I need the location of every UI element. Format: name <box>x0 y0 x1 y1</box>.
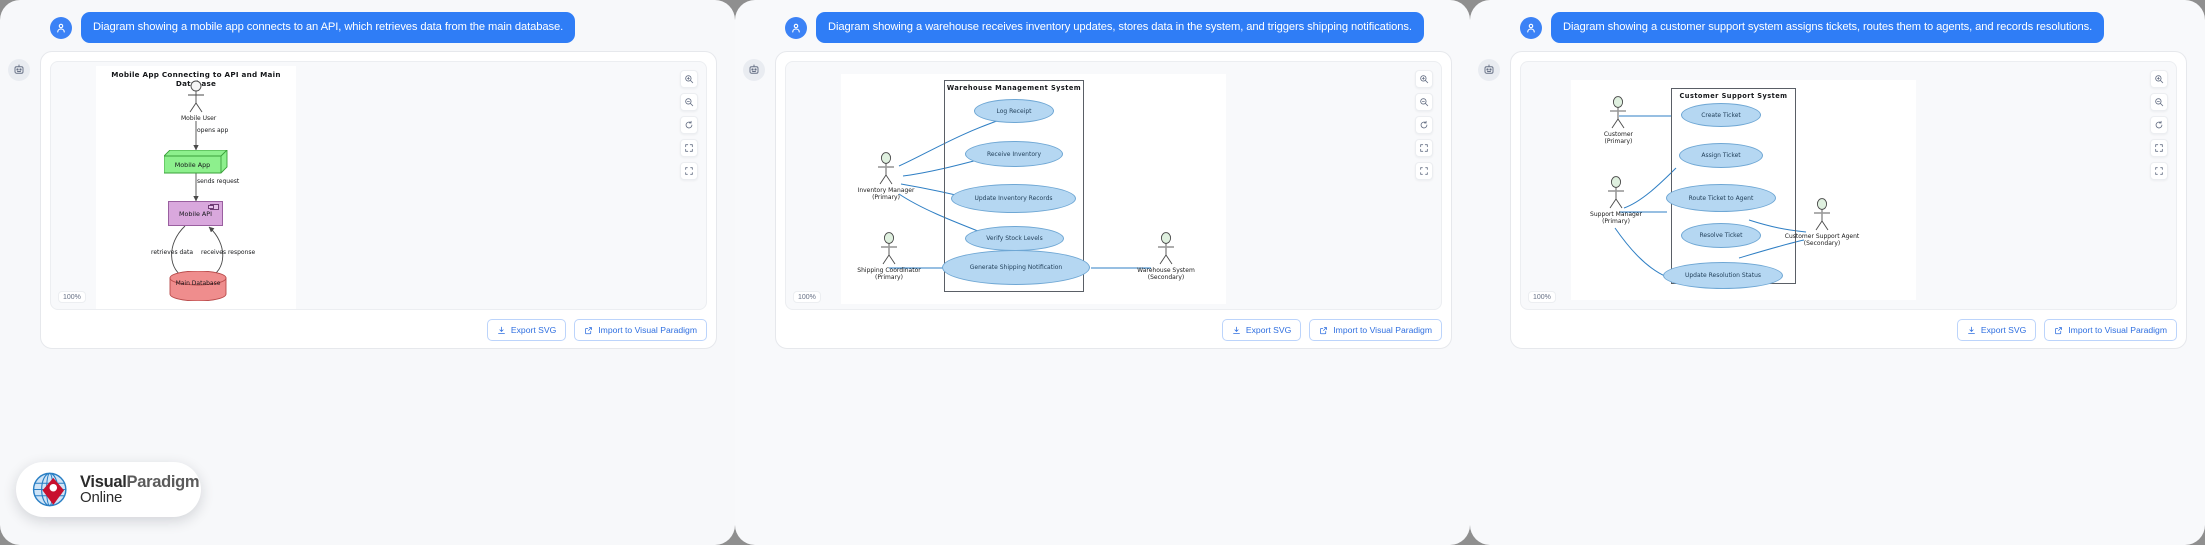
zoom-out-icon[interactable] <box>2150 93 2168 111</box>
user-message-text: Diagram showing a mobile app connects to… <box>81 12 575 43</box>
import-to-visual-paradigm-button[interactable]: Import to Visual Paradigm <box>1309 319 1442 341</box>
actor-inventory-manager: Inventory Manager (Primary) <box>871 152 901 204</box>
fullscreen-icon[interactable] <box>680 162 698 180</box>
zoom-out-icon[interactable] <box>1415 93 1433 111</box>
edge-label-retrieves-data: retrieves data <box>151 249 193 256</box>
zoom-in-icon[interactable] <box>680 70 698 88</box>
use-case-label: Assign Ticket <box>1701 152 1740 159</box>
use-case-update-inventory-records: Update Inventory Records <box>951 184 1076 213</box>
export-svg-button[interactable]: Export SVG <box>1222 319 1301 341</box>
edge-label-sends-request: sends request <box>197 178 239 185</box>
visual-paradigm-watermark: VisualParadigm Online <box>16 462 201 517</box>
actor-name: Inventory Manager <box>858 187 915 194</box>
user-message-text: Diagram showing a warehouse receives inv… <box>816 12 1424 43</box>
export-svg-label: Export SVG <box>511 325 556 335</box>
card-footer: Export SVG Import to Visual Paradigm <box>785 310 1442 341</box>
user-message-row: Diagram showing a warehouse receives inv… <box>735 0 1470 43</box>
user-message-text: Diagram showing a customer support syste… <box>1551 12 2104 43</box>
assistant-response-row: 100% Warehouse Management Syste <box>735 43 1470 349</box>
actor-role: (Primary) <box>875 274 903 281</box>
fit-screen-icon[interactable] <box>2150 139 2168 157</box>
use-case-label: Log Receipt <box>996 108 1031 115</box>
diagram-card: 100% Warehouse Management Syste <box>775 51 1452 349</box>
actor-label: Shipping Coordinator (Primary) <box>857 267 920 281</box>
edge-label-receives-response: receives response <box>201 249 255 256</box>
node-main-database-label: Main Database <box>169 280 227 287</box>
node-mobile-api-label: Mobile API <box>179 210 212 218</box>
node-main-database: Main Database <box>169 271 227 306</box>
user-avatar <box>1520 17 1542 39</box>
import-label: Import to Visual Paradigm <box>2068 325 2167 335</box>
watermark-line1-b: Paradigm <box>127 473 200 491</box>
import-label: Import to Visual Paradigm <box>1333 325 1432 335</box>
diagram-canvas: Mobile App Connecting to API and Main Da… <box>96 66 296 310</box>
use-case-label: Create Ticket <box>1701 112 1741 119</box>
system-boundary-label: Warehouse Management System <box>945 84 1083 92</box>
use-case-route-ticket-to-agent: Route Ticket to Agent <box>1666 184 1776 212</box>
actor-role: (Secondary) <box>1148 274 1184 281</box>
actor-label: Mobile User <box>181 115 211 122</box>
actor-shipping-coordinator: Shipping Coordinator (Primary) <box>874 232 904 284</box>
chat-panel-customer-support: Diagram showing a customer support syste… <box>1470 0 2205 545</box>
actor-role: (Secondary) <box>1804 240 1840 247</box>
actor-label: Inventory Manager (Primary) <box>858 187 915 201</box>
node-mobile-app-label: Mobile App <box>164 156 221 173</box>
reset-zoom-icon[interactable] <box>680 116 698 134</box>
actor-name: Support Manager <box>1590 211 1642 218</box>
user-avatar <box>785 17 807 39</box>
use-case-label: Receive Inventory <box>987 151 1041 158</box>
fullscreen-icon[interactable] <box>1415 162 1433 180</box>
use-case-log-receipt: Log Receipt <box>974 99 1054 123</box>
use-case-label: Generate Shipping Notification <box>970 264 1062 271</box>
zoom-in-icon[interactable] <box>2150 70 2168 88</box>
bot-avatar-icon <box>1478 59 1500 81</box>
use-case-label: Verify Stock Levels <box>986 235 1042 242</box>
zoom-toolbar <box>680 70 698 180</box>
user-message-row: Diagram showing a mobile app connects to… <box>0 0 735 43</box>
actor-support-manager: Support Manager (Primary) <box>1601 176 1631 228</box>
edge-label-opens-app: opens app <box>197 127 228 134</box>
component-stereotype-icon <box>210 204 219 210</box>
diagram-canvas: Warehouse Management System Log Receipt … <box>841 74 1226 304</box>
export-svg-label: Export SVG <box>1981 325 2026 335</box>
export-svg-button[interactable]: Export SVG <box>1957 319 2036 341</box>
zoom-in-icon[interactable] <box>1415 70 1433 88</box>
import-to-visual-paradigm-button[interactable]: Import to Visual Paradigm <box>2044 319 2177 341</box>
diagram-card: 100% Mobile App Connecting to API and Ma… <box>40 51 717 349</box>
system-boundary-label: Customer Support System <box>1672 92 1795 100</box>
use-case-receive-inventory: Receive Inventory <box>965 141 1063 167</box>
actor-name: Customer <box>1604 131 1633 138</box>
zoom-level-badge: 100% <box>1528 291 1556 303</box>
actor-role: (Primary) <box>1604 138 1632 145</box>
zoom-out-icon[interactable] <box>680 93 698 111</box>
actor-role: (Primary) <box>872 194 900 201</box>
actor-name: Customer Support Agent <box>1785 233 1859 240</box>
use-case-generate-shipping-notification: Generate Shipping Notification <box>942 250 1090 285</box>
diagram-card: 100% Customer Support System <box>1510 51 2187 349</box>
card-footer: Export SVG Import to Visual Paradigm <box>1520 310 2177 341</box>
zoom-level-badge: 100% <box>793 291 821 303</box>
actor-name: Shipping Coordinator <box>857 267 920 274</box>
actor-label: Support Manager (Primary) <box>1590 211 1642 225</box>
watermark-text: VisualParadigm Online <box>80 474 199 506</box>
fullscreen-icon[interactable] <box>2150 162 2168 180</box>
diagram-canvas: Customer Support System Create Ticket As… <box>1571 80 1916 300</box>
user-avatar <box>50 17 72 39</box>
use-case-create-ticket: Create Ticket <box>1681 103 1761 127</box>
diagram-viewport[interactable]: 100% Warehouse Management Syste <box>785 61 1442 310</box>
reset-zoom-icon[interactable] <box>1415 116 1433 134</box>
user-message-row: Diagram showing a customer support syste… <box>1470 0 2205 43</box>
actor-label: Warehouse System (Secondary) <box>1137 267 1195 281</box>
actor-customer-support-agent: Customer Support Agent (Secondary) <box>1807 198 1837 250</box>
assistant-response-row: 100% Customer Support System <box>1470 43 2205 349</box>
visual-paradigm-logo-icon <box>30 468 73 511</box>
node-mobile-app: Mobile App <box>164 150 228 179</box>
fit-screen-icon[interactable] <box>1415 139 1433 157</box>
chat-panel-warehouse: Diagram showing a warehouse receives inv… <box>735 0 1470 545</box>
use-case-label: Route Ticket to Agent <box>1689 195 1754 202</box>
export-svg-button[interactable]: Export SVG <box>487 319 566 341</box>
chat-panel-mobile-app: Diagram showing a mobile app connects to… <box>0 0 735 545</box>
zoom-toolbar <box>1415 70 1433 180</box>
use-case-label: Resolve Ticket <box>1700 232 1743 239</box>
import-to-visual-paradigm-button[interactable]: Import to Visual Paradigm <box>574 319 707 341</box>
actor-label: Customer (Primary) <box>1604 131 1633 145</box>
use-case-assign-ticket: Assign Ticket <box>1679 143 1763 168</box>
actor-mobile-user: Mobile User <box>181 80 211 122</box>
use-case-resolve-ticket: Resolve Ticket <box>1681 223 1761 248</box>
zoom-toolbar <box>2150 70 2168 180</box>
diagram-viewport[interactable]: 100% Mobile App Connecting to API and Ma… <box>50 61 707 310</box>
use-case-label: Update Inventory Records <box>974 195 1052 202</box>
export-svg-label: Export SVG <box>1246 325 1291 335</box>
watermark-line1-a: Visual <box>80 473 127 491</box>
use-case-label: Update Resolution Status <box>1685 272 1761 279</box>
actor-customer: Customer (Primary) <box>1603 96 1633 148</box>
actor-warehouse-system: Warehouse System (Secondary) <box>1151 232 1181 284</box>
bot-avatar-icon <box>743 59 765 81</box>
use-case-update-resolution-status: Update Resolution Status <box>1663 262 1783 289</box>
actor-label: Customer Support Agent (Secondary) <box>1785 233 1859 247</box>
panel-strip: Diagram showing a mobile app connects to… <box>0 0 2205 545</box>
assistant-response-row: 100% Mobile App Connecting to API and Ma… <box>0 43 735 349</box>
actor-name: Warehouse System <box>1137 267 1195 274</box>
node-mobile-api: Mobile API <box>168 201 223 226</box>
watermark-line2: Online <box>80 490 199 505</box>
zoom-level-badge: 100% <box>58 291 86 303</box>
diagram-viewport[interactable]: 100% Customer Support System <box>1520 61 2177 310</box>
reset-zoom-icon[interactable] <box>2150 116 2168 134</box>
import-label: Import to Visual Paradigm <box>598 325 697 335</box>
use-case-verify-stock-levels: Verify Stock Levels <box>965 226 1064 251</box>
card-footer: Export SVG Import to Visual Paradigm <box>50 310 707 341</box>
actor-role: (Primary) <box>1602 218 1630 225</box>
bot-avatar-icon <box>8 59 30 81</box>
fit-screen-icon[interactable] <box>680 139 698 157</box>
